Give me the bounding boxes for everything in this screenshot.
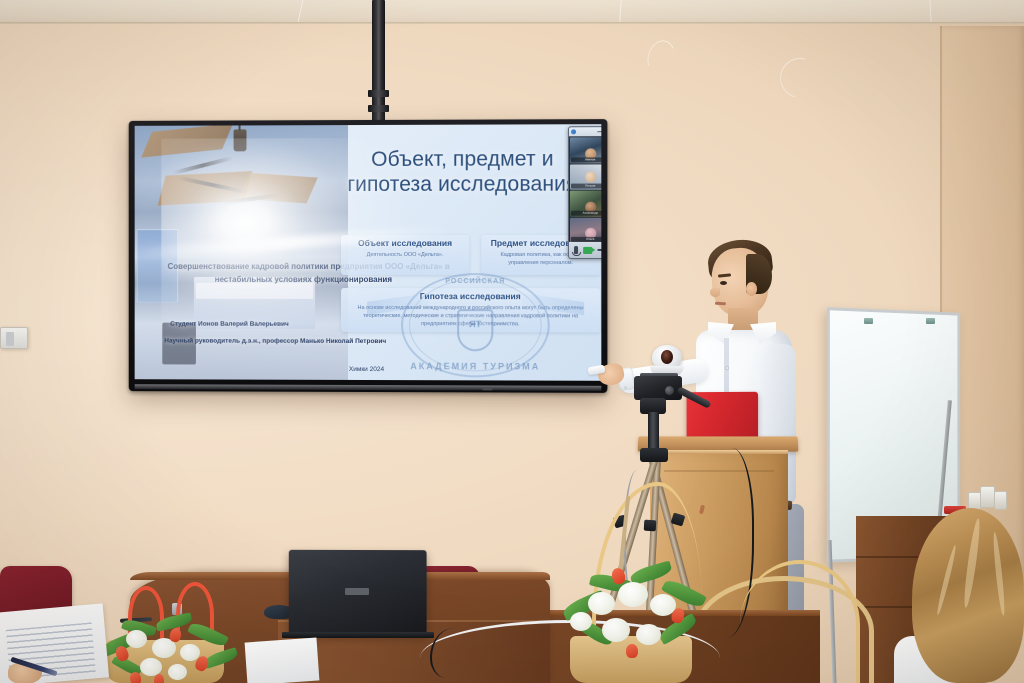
tripod-knob[interactable] (665, 386, 674, 395)
video-conference-panel[interactable]: Иванов Петров Александр Ольга (568, 126, 601, 259)
microphone-icon[interactable] (574, 246, 578, 254)
flower-bud (154, 674, 164, 683)
beige-cable-loop (740, 560, 860, 683)
flower-bloom (570, 612, 592, 631)
tripod-center-column (648, 412, 659, 452)
vc-toolbar[interactable] (569, 242, 601, 258)
minimize-icon[interactable] (597, 131, 601, 133)
vc-participant-tile[interactable]: Петров (570, 164, 601, 190)
tv-ir-sensor (482, 387, 492, 390)
presenter-eye (720, 281, 727, 285)
camera-lens-icon (661, 350, 673, 364)
vc-app-icon (571, 129, 576, 134)
ceiling-tile-seam (298, 0, 304, 22)
room-scene: Объект, предмет и гипотеза исследования … (0, 0, 1024, 683)
participant-face (585, 172, 596, 183)
photo-pendant-lamp (234, 129, 247, 151)
vc-participant-tile[interactable]: Александр (570, 191, 601, 217)
television: Объект, предмет и гипотеза исследования … (129, 119, 608, 393)
flower-bloom (168, 664, 187, 680)
whiteboard-clip (926, 318, 935, 324)
tripod-head (634, 376, 682, 400)
flower-bloom (588, 592, 615, 615)
flower-bouquet (556, 556, 708, 656)
slide-card-hypothesis: Гипотеза исследования На основе исследов… (341, 288, 600, 333)
photo-ceiling-panel (141, 124, 233, 157)
participant-name: Петров (571, 184, 601, 189)
seated-woman (898, 508, 1024, 683)
photo-banner (196, 283, 313, 299)
presenter-ear (746, 282, 757, 296)
presentation-slide: Объект, предмет и гипотеза исследования … (135, 124, 602, 381)
vc-participant-tile[interactable]: Ольга (570, 217, 601, 243)
participant-name: Иванов (571, 157, 601, 162)
light-switch[interactable] (0, 327, 28, 349)
mount-clamp (368, 90, 389, 97)
flower-bloom (126, 630, 147, 648)
slide-supervisor-name: Научный руководитель д.э.н., профессор М… (164, 338, 386, 346)
hair-highlight (962, 518, 982, 608)
whiteboard-clip (864, 318, 873, 324)
flower-bloom (618, 582, 648, 607)
paper-cup (980, 486, 995, 508)
hair-highlight (935, 544, 957, 615)
flower-bloom (636, 624, 661, 645)
slide-topic-line-2: нестабильных условиях функционирования (164, 275, 443, 284)
shirt-button (725, 366, 729, 370)
flower-bud (129, 671, 142, 683)
tv-screen: Объект, предмет и гипотеза исследования … (135, 124, 602, 381)
vc-window-buttons[interactable] (597, 130, 601, 134)
tv-bottom-bezel (135, 384, 602, 391)
camera-icon[interactable] (583, 246, 592, 253)
participant-name: Александр (571, 210, 601, 215)
seated-person-left (0, 616, 128, 683)
ceiling-tile-seam (619, 0, 622, 22)
black-laptop-base (282, 632, 434, 638)
tripod-leg-spreader (640, 448, 668, 462)
woman-hair (912, 508, 1024, 683)
mount-clamp (368, 105, 389, 112)
laptop-brand-logo (345, 588, 369, 595)
ceiling-tile-seam (929, 0, 931, 22)
card-body: На основе исследований международного и … (346, 304, 595, 328)
hair-highlight (992, 532, 1007, 616)
vc-participant-tiles: Иванов Петров Александр Ольга (570, 137, 601, 243)
flower-bloom (602, 618, 630, 642)
presenter-nose (710, 288, 720, 297)
card-body: Деятельность ООО «Дельта». (346, 251, 464, 259)
card-heading: Гипотеза исследования (341, 291, 600, 301)
card-heading: Объект исследования (341, 238, 469, 248)
flower-bud (626, 644, 638, 658)
slide-student-name: Студент Ионов Валерий Валерьевич (170, 321, 289, 328)
presenter-mouth (715, 302, 726, 305)
slide-card-object: Объект исследования Деятельность ООО «Де… (341, 235, 469, 275)
cuff-button (624, 386, 627, 389)
flower-bud (169, 627, 183, 643)
paper-sheet (245, 638, 320, 683)
vc-titlebar[interactable] (569, 127, 601, 136)
vc-participant-tile[interactable]: Иванов (570, 137, 601, 163)
slide-title: Объект, предмет и гипотеза исследования (333, 146, 592, 197)
leaf (203, 647, 239, 669)
